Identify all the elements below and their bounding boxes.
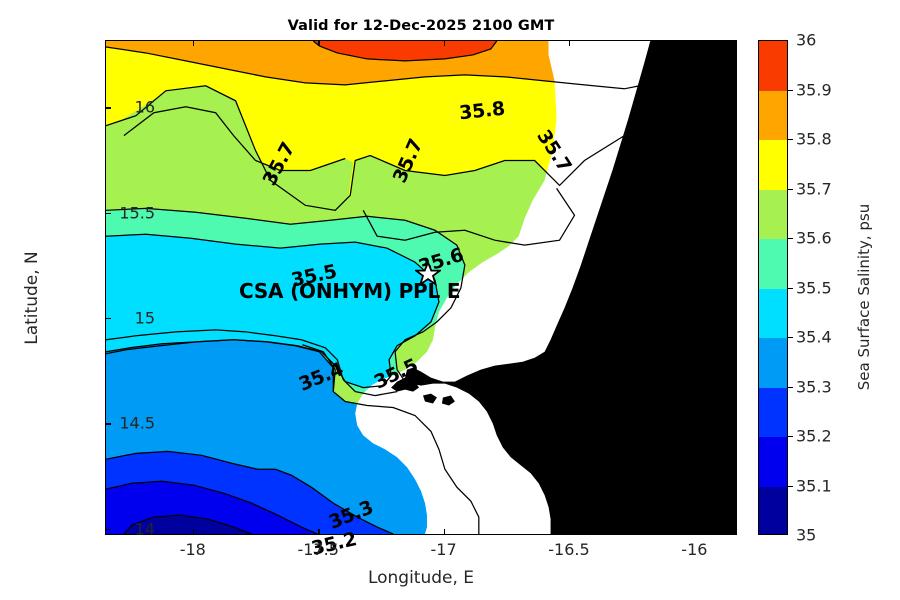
colorbar-tick-label: 35.1 <box>796 476 832 495</box>
y-tick-mark <box>731 213 737 214</box>
site-label: CSA (ONHYM) PPL E <box>239 279 460 303</box>
colorbar-tick-label: 35.2 <box>796 427 832 446</box>
x-tick-mark <box>318 40 319 46</box>
y-tick-mark <box>731 107 737 108</box>
colorbar-band <box>759 338 787 388</box>
colorbar-band <box>759 289 787 339</box>
colorbar-tick-mark <box>788 436 793 437</box>
colorbar-tick-mark <box>788 288 793 289</box>
x-tick-mark <box>694 40 695 46</box>
x-tick-label: -16 <box>681 540 707 559</box>
x-tick-mark <box>444 40 445 46</box>
y-tick-mark <box>105 213 111 214</box>
colorbar-tick-mark <box>788 189 793 190</box>
colorbar-tick-mark <box>788 387 793 388</box>
colorbar[interactable] <box>758 40 788 535</box>
y-axis-title: Latitude, N <box>22 178 42 418</box>
y-tick-mark <box>731 529 737 530</box>
colorbar-band <box>759 388 787 438</box>
y-tick-mark <box>731 423 737 424</box>
colorbar-band <box>759 140 787 190</box>
sss-contour-figure: Valid for 12-Dec-2025 2100 GMT <box>0 0 900 600</box>
colorbar-tick-label: 35.8 <box>796 130 832 149</box>
x-tick-mark <box>193 40 194 46</box>
y-tick-mark <box>731 318 737 319</box>
y-tick-label: 14.5 <box>119 414 155 433</box>
figure-title: Valid for 12-Dec-2025 2100 GMT <box>105 18 737 34</box>
y-tick-label: 15 <box>135 309 155 328</box>
x-tick-mark <box>694 529 695 535</box>
colorbar-tick-mark <box>788 337 793 338</box>
x-tick-label: -18 <box>180 540 206 559</box>
colorbar-band <box>759 487 787 536</box>
y-tick-label: 14 <box>135 519 155 538</box>
colorbar-tick-label: 35 <box>796 526 816 545</box>
colorbar-tick-mark <box>788 238 793 239</box>
x-tick-mark <box>569 529 570 535</box>
y-tick-mark <box>105 318 111 319</box>
x-axis-title: Longitude, E <box>105 568 737 588</box>
y-tick-mark <box>105 423 111 424</box>
colorbar-tick-mark <box>788 90 793 91</box>
x-tick-mark <box>318 529 319 535</box>
x-tick-mark <box>569 40 570 46</box>
colorbar-tick-mark <box>788 486 793 487</box>
x-tick-mark <box>193 529 194 535</box>
colorbar-tick-mark <box>788 139 793 140</box>
colorbar-tick-label: 35.9 <box>796 80 832 99</box>
y-tick-label: 16 <box>135 98 155 117</box>
x-tick-label: -17.5 <box>297 540 338 559</box>
x-tick-label: -17 <box>430 540 456 559</box>
colorbar-tick-label: 35.4 <box>796 328 832 347</box>
colorbar-tick-label: 35.5 <box>796 278 832 297</box>
colorbar-band <box>759 190 787 240</box>
colorbar-band <box>759 41 787 91</box>
colorbar-band <box>759 91 787 141</box>
y-tick-mark <box>105 107 111 108</box>
colorbar-tick-label: 35.7 <box>796 179 832 198</box>
x-tick-mark <box>444 529 445 535</box>
x-tick-label: -16.5 <box>548 540 589 559</box>
colorbar-band <box>759 437 787 487</box>
colorbar-title: Sea Surface Salinity, psu <box>855 177 873 417</box>
colorbar-tick-label: 35.6 <box>796 229 832 248</box>
colorbar-band <box>759 239 787 289</box>
y-tick-label: 15.5 <box>119 203 155 222</box>
y-tick-mark <box>105 529 111 530</box>
colorbar-tick-label: 36 <box>796 31 816 50</box>
colorbar-tick-label: 35.3 <box>796 377 832 396</box>
